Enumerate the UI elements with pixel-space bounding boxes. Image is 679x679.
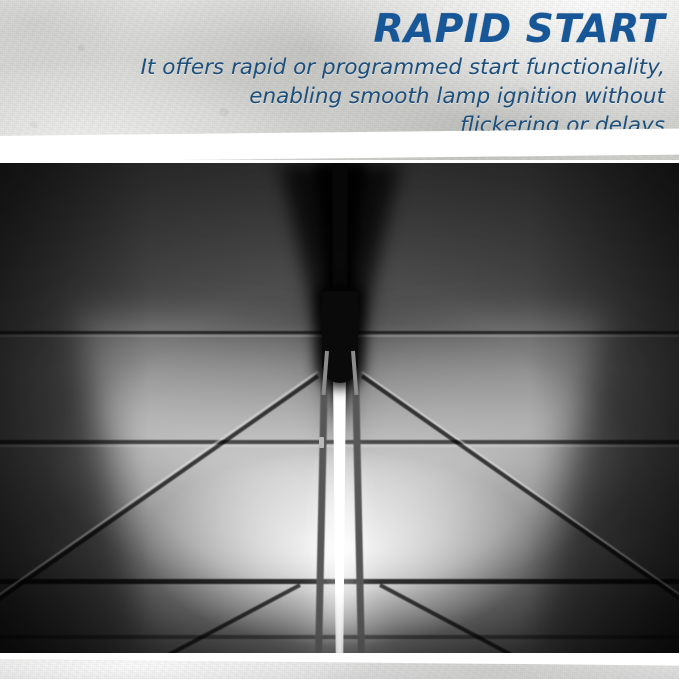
subtitle-line-2: enabling smooth lamp ignition without — [15, 84, 665, 110]
product-photo — [0, 163, 679, 657]
header-banner: RAPID START It offers rapid or programme… — [0, 0, 679, 160]
subtitle-line-1: It offers rapid or programmed start func… — [15, 55, 665, 81]
photo-vignette — [0, 163, 679, 657]
product-feature-banner: RAPID START It offers rapid or programme… — [0, 0, 679, 679]
photo-canvas — [0, 163, 679, 657]
page-title: RAPID START — [15, 8, 665, 52]
header-text-block: RAPID START It offers rapid or programme… — [15, 8, 665, 139]
footer-band — [0, 653, 679, 679]
